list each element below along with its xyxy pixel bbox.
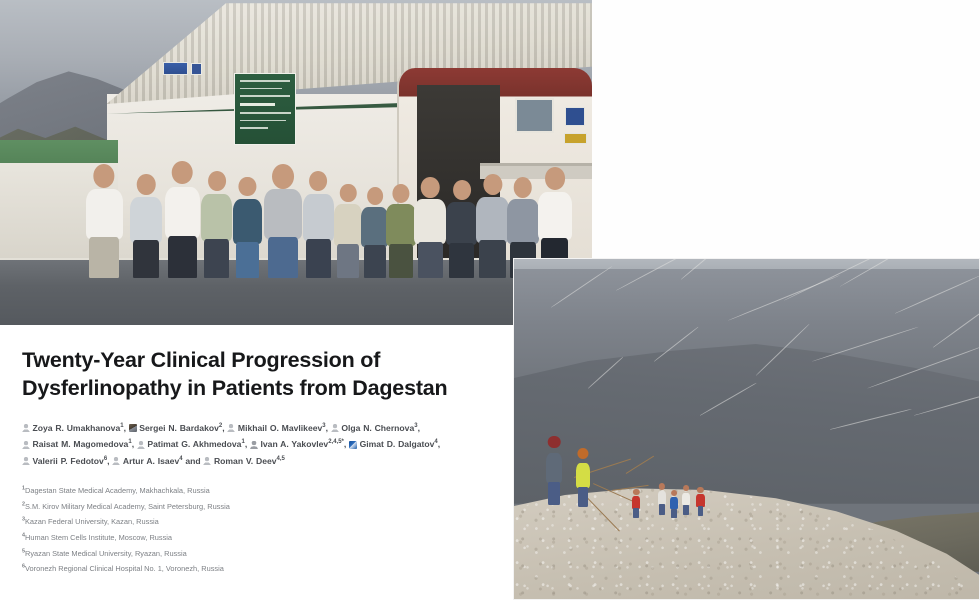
person-figure	[414, 177, 446, 278]
hiker-figure	[680, 485, 691, 514]
hiker-head	[659, 483, 665, 489]
hiker-head	[633, 489, 639, 495]
hiker-body	[576, 463, 591, 488]
page-title: Twenty-Year Clinical Progression of Dysf…	[22, 347, 452, 403]
person-torso	[538, 192, 572, 241]
hiker-legs	[659, 504, 665, 514]
author-name: Valerii P. Fedotov	[33, 456, 104, 466]
author-entry: Mikhail O. Mavlikeev3,	[227, 423, 328, 433]
affiliation-text: Dagestan State Medical Academy, Makhachk…	[25, 486, 210, 495]
person-torso	[361, 207, 388, 247]
clinic-signboard	[234, 73, 296, 145]
composite-figure: Twenty-Year Clinical Progression of Dysf…	[0, 0, 980, 600]
person-figure	[386, 184, 416, 278]
hiker-figure	[694, 487, 706, 516]
hiker-body	[670, 497, 678, 509]
person-legs	[364, 245, 386, 278]
affiliation-row: 5Ryazan State Medical University, Ryazan…	[22, 546, 352, 562]
article-title-block: Twenty-Year Clinical Progression of Dysf…	[0, 325, 513, 600]
author-name: Zoya R. Umakhanova	[33, 423, 121, 433]
person-torso	[201, 194, 232, 241]
author-separator: ,	[222, 423, 224, 433]
person-head	[94, 164, 115, 188]
hiker-legs	[633, 508, 639, 518]
generic-person-icon	[112, 457, 120, 465]
group-photo	[0, 0, 592, 325]
person-torso	[130, 197, 162, 243]
author-separator: ,	[344, 439, 346, 449]
hiker-head	[577, 448, 588, 459]
person-torso	[446, 202, 477, 245]
author-entry: Artur A. Isaev4 and	[112, 456, 200, 466]
person-legs	[204, 239, 229, 278]
house-number-plate	[191, 63, 202, 75]
author-separator: ,	[245, 439, 247, 449]
person-torso	[414, 199, 446, 243]
hiker-figure	[572, 448, 593, 506]
author-name: Roman V. Deev	[214, 456, 277, 466]
author-separator: ,	[418, 423, 420, 433]
hiker-legs	[578, 487, 588, 507]
person-head	[392, 184, 409, 203]
author-separator: ,	[132, 439, 134, 449]
person-figure	[361, 187, 388, 278]
person-torso	[476, 197, 509, 243]
person-head	[421, 177, 440, 198]
bust-person-icon	[250, 441, 258, 449]
hiker-head	[697, 487, 703, 493]
affiliation-text: Ryazan State Medical University, Ryazan,…	[25, 549, 187, 558]
hiker-legs	[683, 505, 688, 515]
author-name: Raisat M. Magomedova	[33, 439, 129, 449]
author-separator: ,	[326, 423, 328, 433]
canyon-landscape-photo	[513, 258, 980, 600]
author-name: Gimat D. Dalgatov	[360, 439, 435, 449]
hiker-body	[632, 496, 640, 509]
person-figure	[233, 177, 263, 278]
person-figure	[303, 171, 334, 278]
author-entry: Patimat G. Akhmedova1,	[137, 439, 247, 449]
author-affiliation-marker: 4,5	[277, 456, 285, 462]
person-legs	[479, 240, 506, 277]
hiker-body	[546, 453, 562, 483]
author-name: Artur A. Isaev	[123, 456, 179, 466]
affiliation-text: Kazan Federal University, Kazan, Russia	[25, 517, 159, 526]
person-torso	[86, 189, 123, 239]
title-line-2: Dysferlinopathy in Patients from Dagesta…	[22, 376, 447, 400]
person-figure	[446, 180, 477, 278]
person-figure	[201, 171, 232, 278]
author-name: Sergei N. Bardakov	[139, 423, 219, 433]
hiker-head	[683, 485, 689, 491]
author-name: Patimat G. Akhmedova	[147, 439, 241, 449]
affiliation-list: 1Dagestan State Medical Academy, Makhach…	[22, 483, 352, 576]
generic-person-icon	[331, 424, 339, 432]
person-legs	[418, 242, 444, 278]
person-head	[310, 171, 328, 191]
affiliation-row: 3Kazan Federal University, Kazan, Russia	[22, 514, 352, 530]
author-photo-icon	[129, 424, 137, 432]
author-affiliation-marker: 2,4,5*	[328, 440, 344, 446]
blue-address-plate	[163, 62, 188, 76]
author-entry: Olga N. Chernova3,	[331, 423, 420, 433]
author-entry: Ivan A. Yakovlev2,4,5*,	[250, 439, 346, 449]
generic-person-icon	[203, 457, 211, 465]
hiker-head	[548, 436, 561, 449]
person-head	[172, 161, 193, 184]
person-head	[453, 180, 471, 200]
hiker-legs	[548, 482, 560, 505]
person-figure	[86, 164, 123, 278]
person-legs	[337, 244, 360, 278]
author-entry: Sergei N. Bardakov2,	[129, 423, 225, 433]
author-entry: Gimat D. Dalgatov4,	[349, 439, 440, 449]
person-torso	[264, 189, 302, 239]
affiliation-row: 6Voronezh Regional Clinical Hospital No.…	[22, 561, 352, 577]
generic-person-icon	[227, 424, 235, 432]
person-head	[137, 174, 156, 195]
person-torso	[165, 187, 201, 238]
person-legs	[168, 236, 196, 278]
author-entry: Valerii P. Fedotov6,	[22, 456, 110, 466]
affiliation-text: Voronezh Regional Clinical Hospital No. …	[25, 564, 224, 573]
blue-avatar-icon	[349, 441, 357, 449]
person-torso	[507, 199, 539, 243]
person-figure	[264, 164, 302, 278]
person-head	[545, 167, 565, 189]
person-legs	[133, 240, 159, 277]
window	[515, 98, 553, 134]
person-torso	[233, 199, 263, 243]
author-list: Zoya R. Umakhanova1, Sergei N. Bardakov2…	[22, 420, 474, 470]
person-legs	[389, 244, 413, 278]
person-legs	[449, 243, 474, 278]
person-legs	[89, 237, 118, 278]
generic-person-icon	[137, 441, 145, 449]
title-line-1: Twenty-Year Clinical Progression of	[22, 348, 380, 372]
author-entry: Raisat M. Magomedova1,	[22, 439, 134, 449]
person-head	[340, 184, 356, 202]
hiker-legs	[698, 506, 704, 516]
hiker-body	[696, 494, 704, 507]
affiliation-row: 1Dagestan State Medical Academy, Makhach…	[22, 483, 352, 499]
person-legs	[306, 239, 331, 278]
hiker-legs	[671, 509, 676, 518]
person-figure	[476, 174, 509, 278]
accessibility-sign-icon	[565, 107, 585, 126]
generic-person-icon	[22, 457, 30, 465]
author-entry: Zoya R. Umakhanova1,	[22, 423, 126, 433]
hiker-body	[682, 493, 690, 506]
person-legs	[236, 242, 260, 278]
person-figure	[130, 174, 162, 278]
person-head	[208, 171, 226, 191]
generic-person-icon	[22, 424, 30, 432]
hiker-body	[658, 491, 666, 504]
person-head	[239, 177, 256, 196]
person-torso	[386, 204, 416, 245]
person-head	[483, 174, 502, 196]
person-head	[272, 164, 294, 189]
author-name: Mikhail O. Mavlikeev	[238, 423, 322, 433]
affiliation-text: S.M. Kirov Military Medical Academy, Sai…	[25, 502, 230, 511]
hiker-figure	[630, 489, 642, 518]
person-head	[367, 187, 383, 205]
person-legs	[268, 237, 298, 278]
generic-person-icon	[22, 441, 30, 449]
affiliation-text: Human Stem Cells Institute, Moscow, Russ…	[25, 533, 172, 542]
author-separator: ,	[124, 423, 126, 433]
author-name: Olga N. Chernova	[341, 423, 414, 433]
author-entry: Roman V. Deev4,5	[203, 456, 284, 466]
author-separator: ,	[438, 439, 440, 449]
person-torso	[303, 194, 334, 241]
author-separator: ,	[107, 456, 109, 466]
yellow-notice-sign-icon	[564, 133, 588, 144]
person-figure	[334, 184, 362, 278]
person-figure	[165, 161, 201, 278]
affiliation-row: 2S.M. Kirov Military Medical Academy, Sa…	[22, 499, 352, 515]
hiker-figure	[542, 436, 566, 504]
person-head	[513, 177, 532, 198]
hiker-figure	[656, 483, 668, 514]
author-name: Ivan A. Yakovlev	[261, 439, 329, 449]
hiker-head	[671, 490, 677, 496]
hiker-figure	[668, 490, 679, 517]
affiliation-row: 4Human Stem Cells Institute, Moscow, Rus…	[22, 530, 352, 546]
author-separator: and	[183, 456, 201, 466]
person-torso	[334, 204, 362, 245]
